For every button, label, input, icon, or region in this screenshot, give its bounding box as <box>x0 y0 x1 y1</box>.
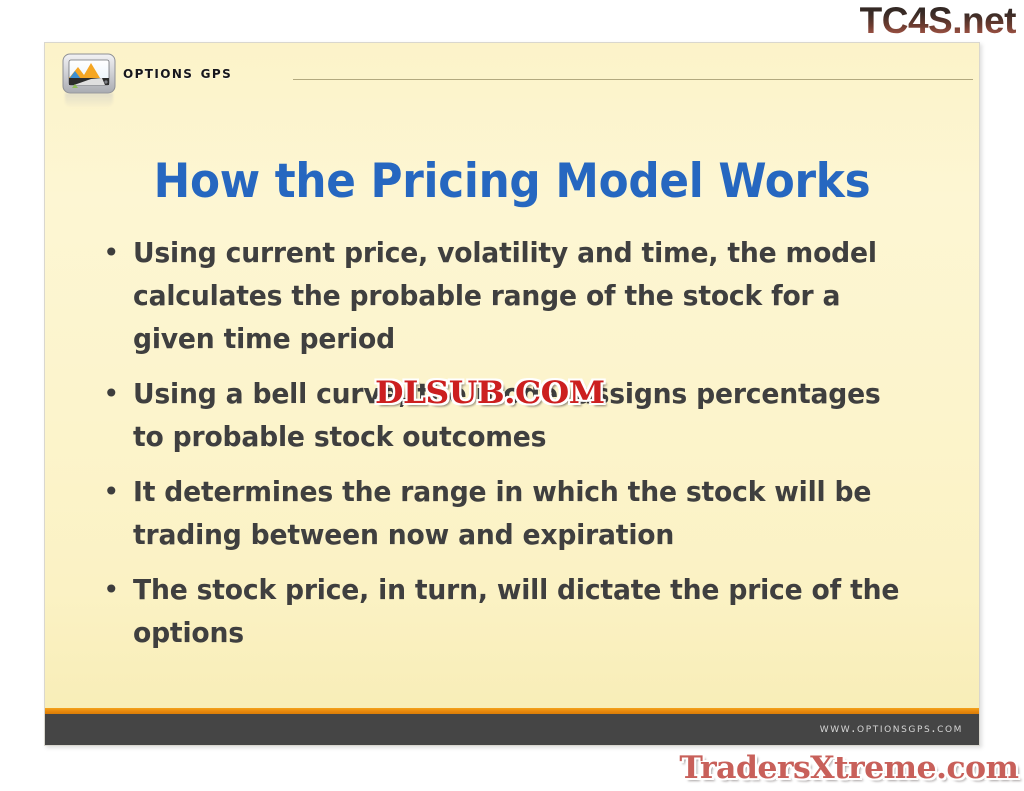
bullet-point-icon: • <box>97 372 133 416</box>
logo-reflection <box>65 93 113 107</box>
tc4s-watermark: TC4S.net <box>860 1 1016 41</box>
header-divider <box>293 79 973 80</box>
slide-header: Options GPS <box>45 43 979 101</box>
gps-device-icon <box>61 51 117 97</box>
bullet-point-icon: • <box>97 470 133 514</box>
list-item: • The stock price, in turn, will dictate… <box>97 568 953 654</box>
footer-url: www.OptionsGPS.com <box>820 721 963 736</box>
bullet-point-icon: • <box>97 231 133 275</box>
bullet-text: The stock price, in turn, will dictate t… <box>133 568 912 654</box>
slide-footer: www.OptionsGPS.com <box>45 714 979 745</box>
tradersxtreme-watermark: TradersXtreme.com <box>679 750 1018 786</box>
brand-name: Options GPS <box>123 63 232 83</box>
bullet-list: • Using current price, volatility and ti… <box>97 231 953 666</box>
presentation-slide: Options GPS How the Pricing Model Works … <box>44 42 980 746</box>
bullet-text: It determines the range in which the sto… <box>133 470 912 556</box>
list-item: • Using current price, volatility and ti… <box>97 231 953 360</box>
page-title: How the Pricing Model Works <box>78 154 947 210</box>
bullet-text: Using current price, volatility and time… <box>133 231 912 360</box>
bullet-point-icon: • <box>97 568 133 612</box>
list-item: • It determines the range in which the s… <box>97 470 953 556</box>
dlsub-watermark: DLSUB.COM <box>375 376 605 410</box>
